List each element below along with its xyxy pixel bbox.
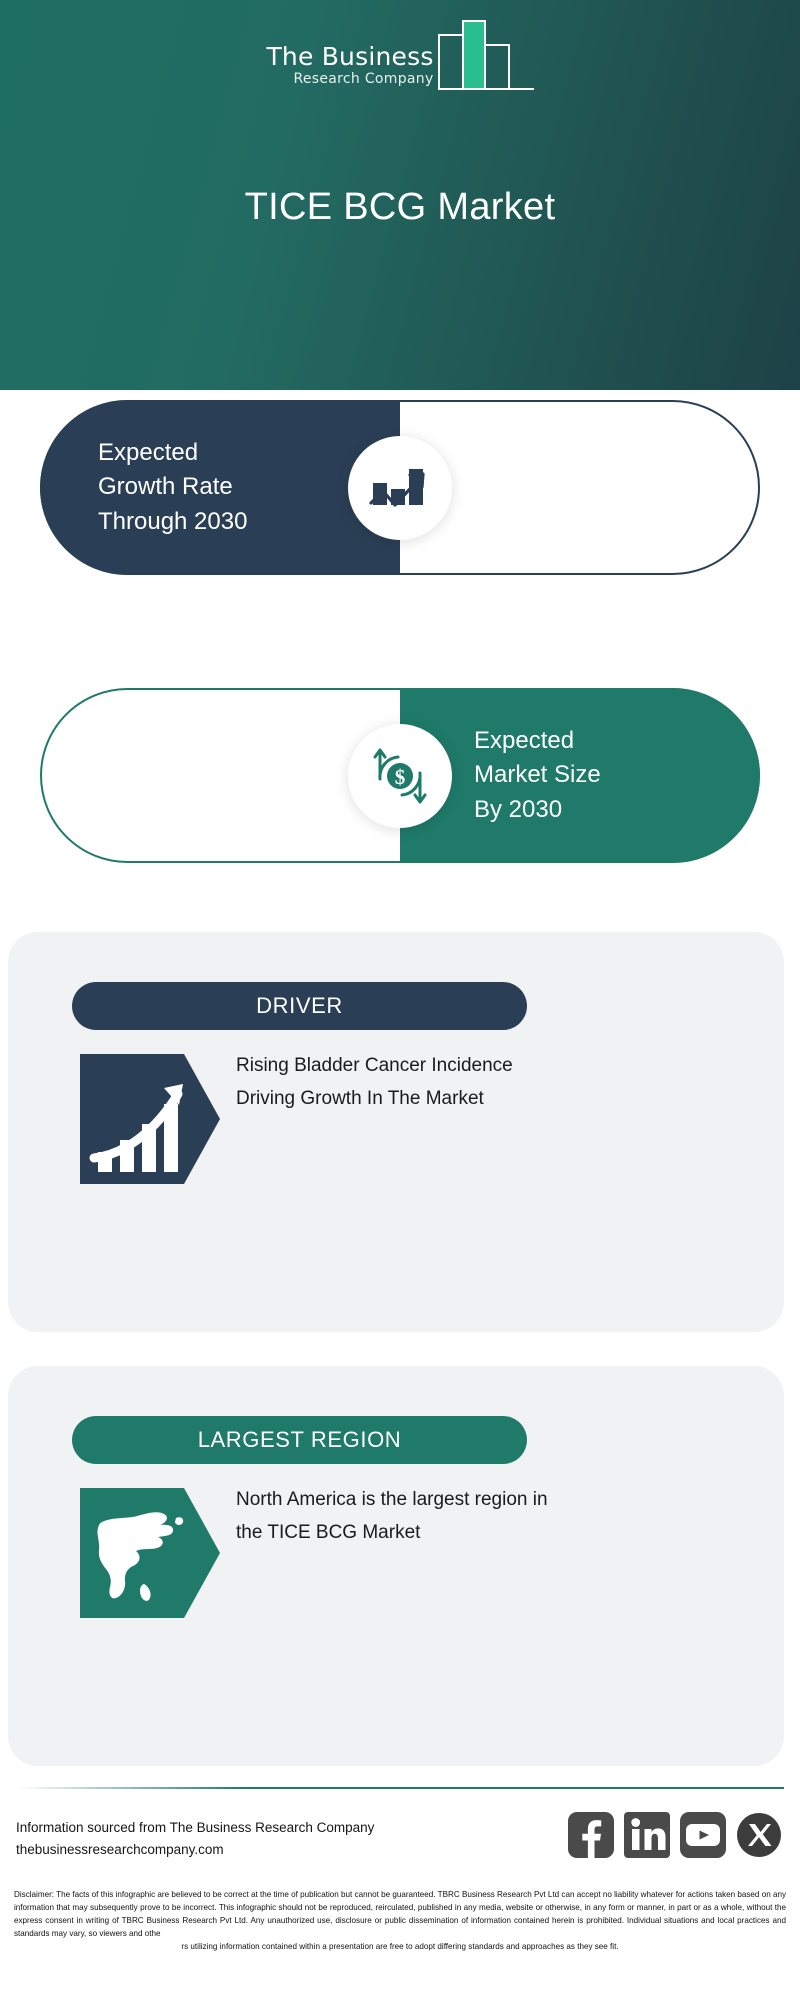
disclaimer-last-line: rs utilizing information contained withi… <box>14 1940 786 1953</box>
card-label-line3: By 2030 <box>474 793 562 827</box>
growth-bar-chart-arrow-icon <box>348 436 452 540</box>
card-label-line1: Expected <box>474 724 574 758</box>
panel-largest-region: LARGEST REGION North America is the larg… <box>8 1366 784 1766</box>
header-banner: The Business Research Company TICE BCG M… <box>0 0 800 390</box>
card-label-line3: Through 2030 <box>98 505 247 539</box>
region-body-text: North America is the largest region in t… <box>236 1484 576 1549</box>
linkedin-icon[interactable] <box>624 1812 670 1858</box>
driver-body-text: Rising Bladder Cancer Incidence Driving … <box>236 1050 576 1115</box>
pill-driver-label: DRIVER <box>256 993 343 1019</box>
dollar-circular-arrows-icon: $ <box>348 724 452 828</box>
card-label-line1: Expected <box>98 436 198 470</box>
social-links <box>568 1812 782 1858</box>
source-text: Information sourced from The Business Re… <box>16 1820 374 1835</box>
svg-text:$: $ <box>395 765 406 789</box>
x-twitter-icon[interactable] <box>736 1812 782 1858</box>
rising-arrow-bars-icon <box>80 1054 220 1184</box>
logo-title: The Business <box>266 44 433 69</box>
disclaimer-text: Disclaimer: The facts of this infographi… <box>14 1888 786 1954</box>
page-title: TICE BCG Market <box>0 186 800 229</box>
bar-chart-logo-mark-icon <box>438 20 534 90</box>
company-logo: The Business Research Company <box>0 20 800 90</box>
pill-largest-region-label: LARGEST REGION <box>198 1427 402 1453</box>
card-label-group: Expected Growth Rate Through 2030 <box>40 400 400 575</box>
footer-divider <box>16 1787 784 1789</box>
card-label-line2: Market Size <box>474 758 601 792</box>
metric-card-growth-rate: Expected Growth Rate Through 2030 <box>40 400 760 575</box>
card-label-group: Expected Market Size By 2030 <box>400 688 760 863</box>
metric-card-market-size: Expected Market Size By 2030 $ <box>40 688 760 863</box>
facebook-icon[interactable] <box>568 1812 614 1858</box>
pill-driver: DRIVER <box>72 982 527 1030</box>
panel-driver: DRIVER Rising Bladder Cancer Incidence D… <box>8 932 784 1332</box>
card-label-line2: Growth Rate <box>98 470 233 504</box>
pill-largest-region: LARGEST REGION <box>72 1416 527 1464</box>
logo-subtitle: Research Company <box>266 72 433 86</box>
disclaimer-main: Disclaimer: The facts of this infographi… <box>14 1890 786 1938</box>
youtube-icon[interactable] <box>680 1812 726 1858</box>
website-link[interactable]: thebusinessresearchcompany.com <box>16 1842 224 1857</box>
north-america-map-icon <box>80 1488 220 1618</box>
